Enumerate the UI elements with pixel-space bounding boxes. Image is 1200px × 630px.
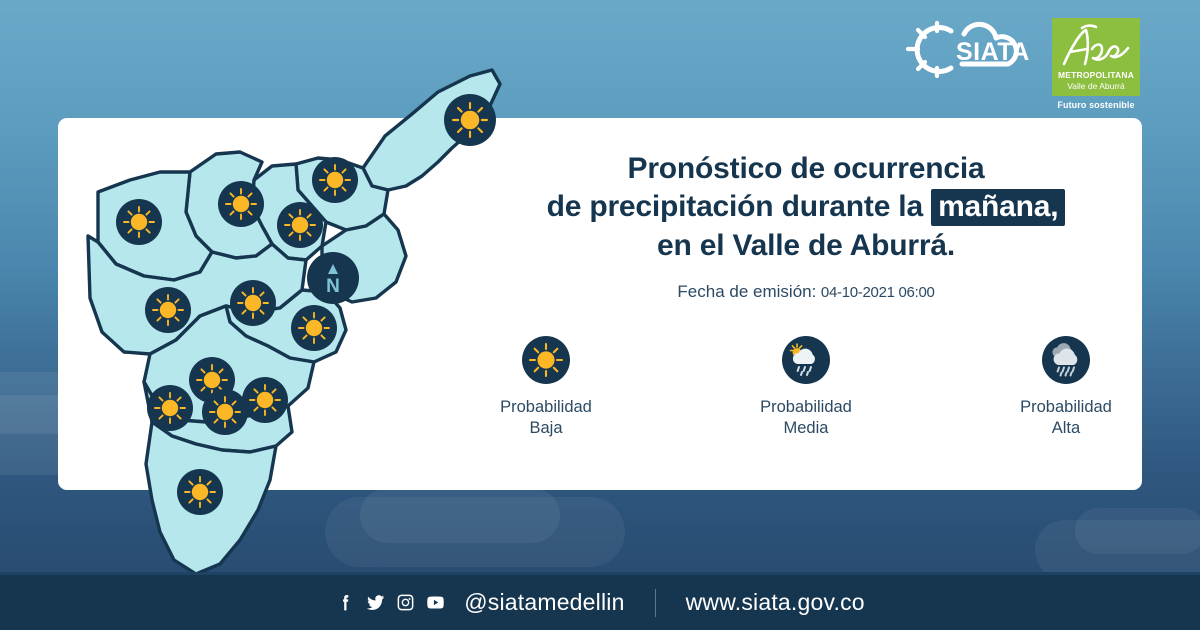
area-script-icon — [1052, 22, 1140, 70]
legend-alta-line2: Alta — [1020, 418, 1112, 439]
background-cloud-bottom-center-top — [360, 488, 560, 543]
sun-icon — [522, 336, 570, 384]
background-cloud-bottom-right-top — [1075, 508, 1200, 554]
footer-bar: @siatamedellin www.siata.gov.co — [0, 575, 1200, 630]
social-links — [335, 592, 446, 613]
legend-item-media: Probabilidad Media — [731, 336, 881, 439]
emission-date-label: Fecha de emisión: — [677, 282, 816, 301]
legend-caption-baja: Probabilidad Baja — [500, 397, 592, 439]
area-metropolitana-tagline: Futuro sostenible — [1052, 100, 1140, 110]
twitter-icon[interactable] — [365, 592, 386, 613]
instagram-icon[interactable] — [395, 592, 416, 613]
forecast-panel: Pronóstico de ocurrencia de precipitació… — [470, 150, 1142, 439]
sun-cloud-rain-icon — [782, 336, 830, 384]
page-title: Pronóstico de ocurrencia de precipitació… — [470, 150, 1142, 265]
emission-date-row: Fecha de emisión: 04-10-2021 06:00 — [470, 282, 1142, 302]
legend-alta-line1: Probabilidad — [1020, 397, 1112, 418]
legend-item-alta: Probabilidad Alta — [991, 336, 1141, 439]
siata-wordmark: SIATA — [956, 38, 1030, 66]
emission-date-value: 04-10-2021 06:00 — [821, 284, 935, 301]
legend-baja-line2: Baja — [500, 418, 592, 439]
youtube-icon[interactable] — [425, 592, 446, 613]
area-metropolitana-logo: METROPOLITANA Valle de Aburrá Futuro sos… — [1052, 18, 1140, 110]
legend-media-line2: Media — [760, 418, 852, 439]
title-line-3: en el Valle de Aburrá. — [470, 227, 1142, 265]
title-line-1: Pronóstico de ocurrencia — [470, 150, 1142, 188]
legend-media-line1: Probabilidad — [760, 397, 852, 418]
title-highlight-period: mañana, — [931, 189, 1065, 226]
legend-caption-media: Probabilidad Media — [760, 397, 852, 439]
footer-divider — [655, 589, 656, 617]
website-url[interactable]: www.siata.gov.co — [686, 589, 865, 616]
probability-legend: Probabilidad Baja Probabili — [470, 336, 1142, 439]
social-handle[interactable]: @siatamedellin — [464, 589, 624, 616]
siata-logo: SIATA — [904, 18, 1034, 90]
title-line-2-text: de precipitación durante la — [547, 190, 932, 223]
cloud-rain-icon — [1042, 336, 1090, 384]
legend-item-baja: Probabilidad Baja — [471, 336, 621, 439]
facebook-icon[interactable] — [335, 592, 356, 613]
area-metropolitana-line1: METROPOLITANA — [1058, 71, 1134, 81]
legend-caption-alta: Probabilidad Alta — [1020, 397, 1112, 439]
area-metropolitana-green-block: METROPOLITANA Valle de Aburrá — [1052, 18, 1140, 96]
area-metropolitana-line2: Valle de Aburrá — [1067, 81, 1125, 91]
title-line-2: de precipitación durante la mañana, — [470, 188, 1142, 226]
legend-baja-line1: Probabilidad — [500, 397, 592, 418]
brand-logos: SIATA METROPOLITANA Valle de Aburrá Futu… — [904, 18, 1140, 110]
